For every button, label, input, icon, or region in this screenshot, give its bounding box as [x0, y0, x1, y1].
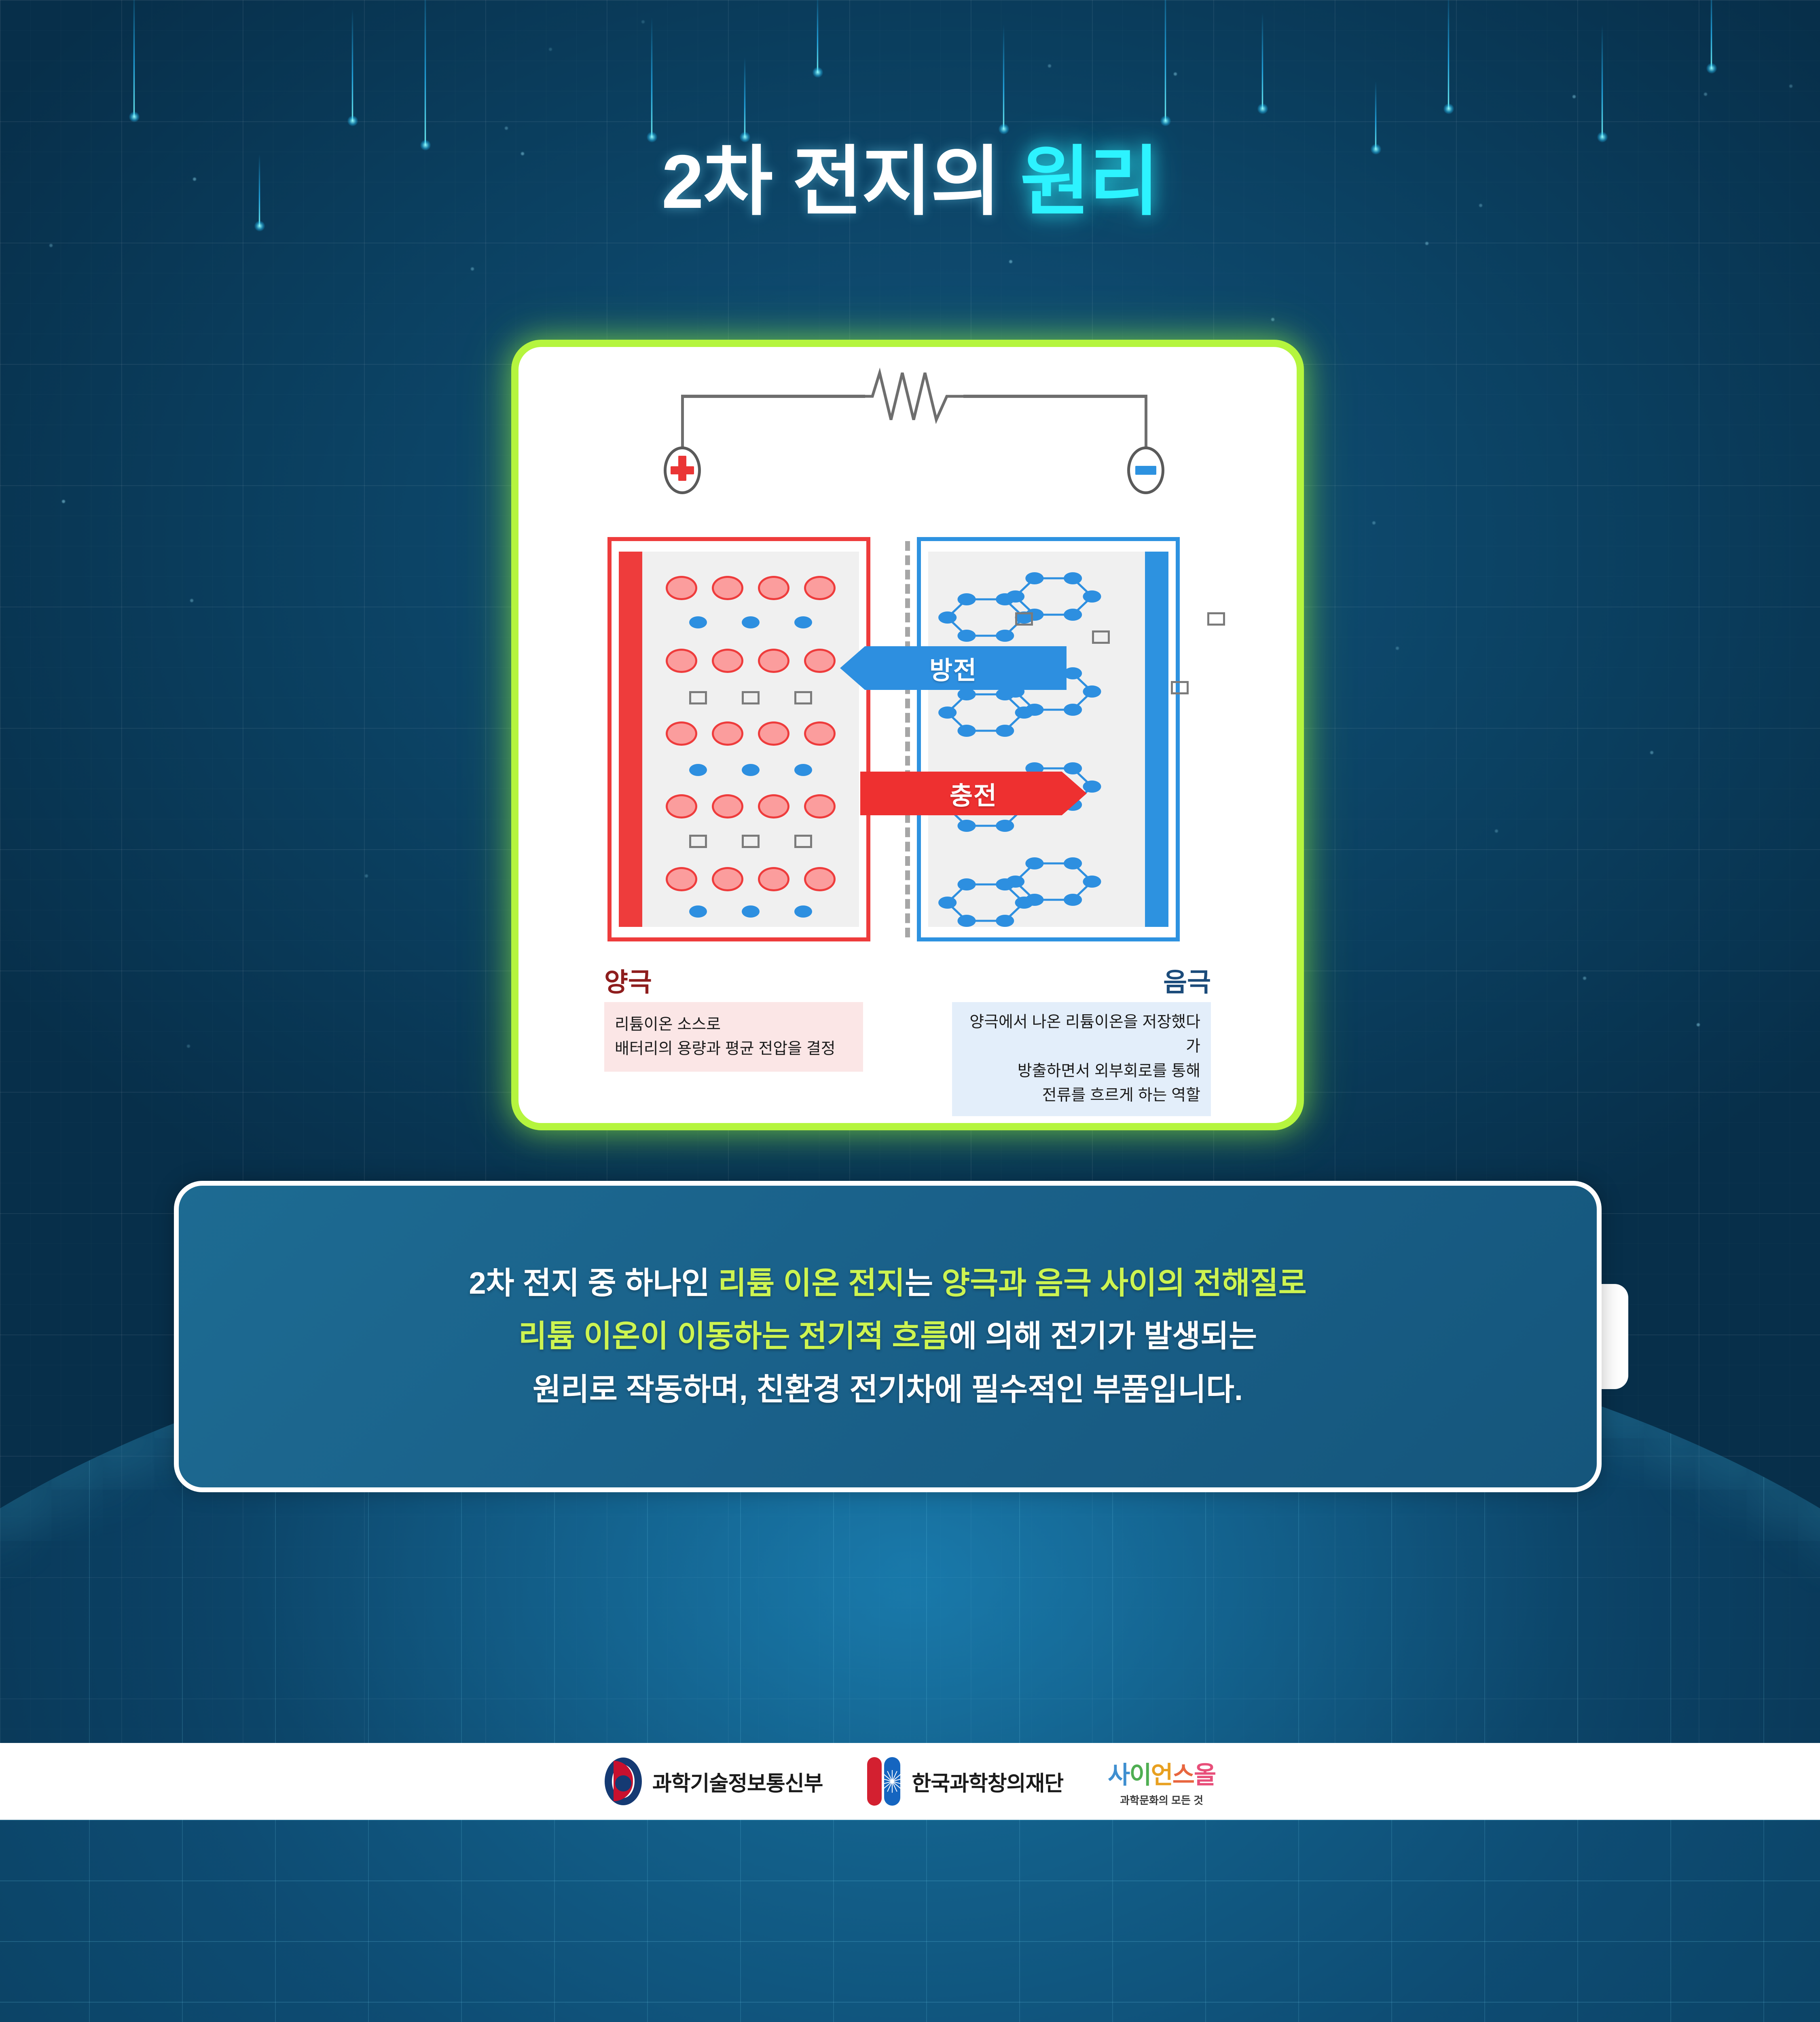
- electron-dot: [742, 764, 760, 776]
- electron-dot: [689, 905, 707, 918]
- minus-icon: [1135, 466, 1156, 475]
- scienceall-char-1: 사: [1108, 1762, 1129, 1789]
- lithium-ion-particle: [666, 867, 697, 891]
- background-spark: [1789, 85, 1792, 88]
- background-spark: [641, 20, 645, 23]
- light-streak: [1375, 81, 1376, 150]
- vacancy-square: [742, 835, 760, 848]
- scienceall-char-3: 언: [1151, 1762, 1172, 1789]
- summary-battery-container: 2차 전지 중 하나인 리튬 이온 전지는 양극과 음극 사이의 전해질로 리튬…: [174, 1181, 1602, 1492]
- cathode-info-box: 리튬이온 소스로 배터리의 용량과 평균 전압을 결정: [604, 1002, 863, 1072]
- electron-dot: [794, 905, 812, 918]
- wire-top-right: [963, 395, 1147, 398]
- wire-left-vertical: [681, 396, 684, 448]
- lithium-ion-particle: [804, 721, 836, 746]
- background-spark: [365, 874, 368, 878]
- logo-msit: 과학기술정보통신부: [605, 1758, 823, 1805]
- background-spark: [62, 500, 65, 503]
- summary-line-3: 원리로 작동하며, 친환경 전기차에 필수적인 부품입니다.: [533, 1370, 1243, 1409]
- summary-battery-body: 2차 전지 중 하나인 리튬 이온 전지는 양극과 음극 사이의 전해질로 리튬…: [174, 1181, 1602, 1492]
- vacancy-square: [742, 691, 760, 704]
- electron-row: [642, 905, 859, 918]
- electron-row: [642, 616, 859, 628]
- vacancy-square: [1092, 630, 1110, 644]
- background-spark: [187, 1045, 190, 1048]
- electron-dot: [794, 764, 812, 776]
- anode-current-collector: [1145, 552, 1168, 927]
- light-streak: [1448, 0, 1449, 109]
- external-circuit: [518, 347, 1297, 493]
- anode-label: 음극: [1163, 962, 1211, 999]
- background-spark: [1495, 829, 1498, 833]
- globe-latitude-line: [0, 2002, 1820, 2003]
- summary-line-1-part-d: 양극과 음극 사이의 전해질로: [942, 1266, 1306, 1301]
- kofac-red-bar: [867, 1757, 882, 1806]
- lithium-ion-particle: [804, 794, 836, 819]
- separator-dashed-line: [905, 541, 910, 937]
- vacancy-row: [642, 835, 859, 848]
- scienceall-tagline: 과학문화의 모든 것: [1120, 1792, 1203, 1807]
- background-spark: [1048, 64, 1051, 68]
- scienceall-char-2: 이: [1129, 1762, 1151, 1789]
- background-spark: [1697, 1023, 1700, 1026]
- cathode-info-line-1: 리튬이온 소스로: [615, 1013, 853, 1037]
- page-title: 2차 전지의 원리: [0, 144, 1820, 220]
- government-taegeuk-icon: [605, 1758, 642, 1805]
- globe-latitude-line: [0, 1880, 1820, 1881]
- background-spark: [1174, 72, 1177, 76]
- lithium-ion-row: [642, 867, 859, 891]
- discharge-arrow-label: 방전: [929, 650, 977, 686]
- background-spark: [1425, 242, 1428, 245]
- light-streak: [1003, 24, 1004, 129]
- lithium-ion-particle: [666, 794, 697, 819]
- footer-logo-bar: 과학기술정보통신부 한국과학창의재단 사이언스올 과학문화의 모든 것: [0, 1743, 1820, 1820]
- scienceall-wordmark: 사이언스올: [1108, 1756, 1215, 1791]
- lithium-ion-particle: [666, 721, 697, 746]
- logo-msit-label: 과학기술정보통신부: [652, 1766, 823, 1797]
- vacancy-square: [1207, 612, 1225, 626]
- background-spark: [1271, 318, 1274, 321]
- battery-diagram-card: 방전 충전 양극 음극 리튬이온 소스로 배터리의 용량과 평균 전압을 결정 …: [511, 340, 1304, 1130]
- electron-dot: [794, 616, 812, 628]
- graphite-layer: [938, 855, 1121, 930]
- wire-top-left: [681, 395, 865, 398]
- light-streak: [1165, 0, 1166, 121]
- background-spark: [49, 244, 53, 247]
- lithium-ion-particle: [712, 867, 743, 891]
- background-spark: [471, 267, 474, 271]
- page-title-plain: 2차 전지의: [662, 139, 1020, 224]
- background-spark: [1009, 260, 1012, 263]
- summary-line-2-part-a: 리튬 이온이 이동하는 전기적 흐름: [518, 1319, 948, 1354]
- summary-line-1: 2차 전지 중 하나인 리튬 이온 전지는 양극과 음극 사이의 전해질로: [469, 1264, 1306, 1303]
- charge-arrow-label: 충전: [950, 775, 997, 812]
- lithium-ion-particle: [804, 576, 836, 600]
- lithium-ion-particle: [804, 867, 836, 891]
- lithium-ion-particle: [712, 649, 743, 673]
- anode-info-line-1: 양극에서 나온 리튬이온을 저장했다가: [963, 1010, 1200, 1059]
- scienceall-char-4: 스: [1172, 1762, 1194, 1789]
- vacancy-square: [794, 691, 812, 704]
- charge-arrow: 충전: [860, 772, 1087, 815]
- background-spark: [549, 48, 552, 51]
- anode-info-line-2: 방출하면서 외부회로를 통해: [963, 1059, 1200, 1083]
- light-streak: [1602, 24, 1603, 137]
- electron-dot: [689, 764, 707, 776]
- lithium-ion-row: [642, 649, 859, 673]
- logo-kofac-label: 한국과학창의재단: [912, 1766, 1063, 1797]
- lithium-ion-particle: [712, 576, 743, 600]
- lithium-ion-row: [642, 794, 859, 819]
- cathode-current-collector: [619, 552, 642, 927]
- positive-terminal: [664, 446, 701, 494]
- light-streak: [352, 8, 353, 121]
- electron-dot: [742, 616, 760, 628]
- negative-terminal: [1127, 446, 1164, 494]
- light-streak: [817, 0, 818, 73]
- vacancy-square: [689, 835, 707, 848]
- light-streak: [425, 0, 426, 146]
- globe-latitude-line: [0, 1820, 1820, 1821]
- scienceall-char-5: 올: [1194, 1762, 1215, 1789]
- logo-kofac: 한국과학창의재단: [867, 1757, 1063, 1806]
- light-streak: [1262, 12, 1263, 109]
- lithium-ion-row: [642, 721, 859, 746]
- electron-dot: [742, 905, 760, 918]
- vacancy-square: [1015, 612, 1033, 626]
- logo-scienceall: 사이언스올 과학문화의 모든 것: [1108, 1756, 1215, 1807]
- lithium-ion-particle: [758, 794, 789, 819]
- lithium-ion-particle: [758, 867, 789, 891]
- background-spark: [1396, 647, 1399, 650]
- electron-row: [642, 764, 859, 776]
- summary-line-2: 리튬 이온이 이동하는 전기적 흐름에 의해 전기가 발생되는: [518, 1317, 1257, 1356]
- lithium-ion-particle: [712, 794, 743, 819]
- light-streak: [744, 57, 745, 137]
- vacancy-square: [689, 691, 707, 704]
- vacancy-square: [1171, 681, 1189, 694]
- summary-line-1-part-a: 2차 전지 중 하나인: [469, 1266, 718, 1301]
- kofac-emblem-icon: [867, 1757, 901, 1806]
- vacancy-row: [642, 691, 859, 704]
- globe-longitude-line: [1763, 1294, 1764, 2022]
- taegeuk-navy-dot: [615, 1775, 631, 1791]
- wire-right-vertical: [1145, 396, 1147, 448]
- summary-line-1-part-c: 는: [905, 1266, 942, 1301]
- background-spark: [1372, 521, 1376, 525]
- plus-icon-horizontal: [671, 466, 694, 474]
- background-spark: [1572, 95, 1576, 98]
- background-spark: [1704, 93, 1707, 96]
- light-streak: [133, 0, 135, 117]
- cathode-electrode: [607, 537, 870, 941]
- light-streak: [651, 16, 652, 137]
- background-spark: [1583, 977, 1586, 980]
- electron-dot: [689, 616, 707, 628]
- anode-graphite-layers: [928, 552, 1145, 927]
- resistor-icon: [860, 367, 967, 426]
- globe-longitude-line: [89, 1294, 90, 2022]
- lithium-ion-particle: [804, 649, 836, 673]
- summary-text: 2차 전지 중 하나인 리튬 이온 전지는 양극과 음극 사이의 전해질로 리튬…: [179, 1186, 1597, 1487]
- background-spark: [1650, 751, 1653, 754]
- lithium-ion-particle: [758, 576, 789, 600]
- cathode-active-material: [642, 552, 859, 927]
- anode-info-line-3: 전류를 흐르게 하는 역할: [963, 1083, 1200, 1108]
- summary-line-2-part-b: 에 의해 전기가 발생되는: [948, 1319, 1257, 1354]
- background-spark: [190, 599, 193, 602]
- lithium-ion-particle: [758, 721, 789, 746]
- globe-latitude-line: [0, 1941, 1820, 1942]
- anode-electrode: [917, 537, 1180, 941]
- kofac-blue-bar: [884, 1757, 900, 1806]
- lithium-ion-particle: [666, 576, 697, 600]
- cathode-label: 양극: [604, 962, 652, 999]
- cathode-info-line-2: 배터리의 용량과 평균 전압을 결정: [615, 1037, 853, 1061]
- anode-info-box: 양극에서 나온 리튬이온을 저장했다가 방출하면서 외부회로를 통해 전류를 흐…: [952, 1002, 1211, 1116]
- discharge-arrow: 방전: [840, 646, 1067, 690]
- page-title-highlight: 원리: [1020, 139, 1158, 224]
- light-streak: [1711, 0, 1712, 69]
- vacancy-square: [794, 835, 812, 848]
- lithium-ion-particle: [758, 649, 789, 673]
- lithium-ion-particle: [666, 649, 697, 673]
- globe-longitude-line: [1670, 1294, 1671, 2022]
- lithium-ion-row: [642, 576, 859, 600]
- lithium-ion-particle: [712, 721, 743, 746]
- background-spark: [505, 127, 508, 130]
- summary-line-1-part-b: 리튬 이온 전지: [718, 1266, 905, 1301]
